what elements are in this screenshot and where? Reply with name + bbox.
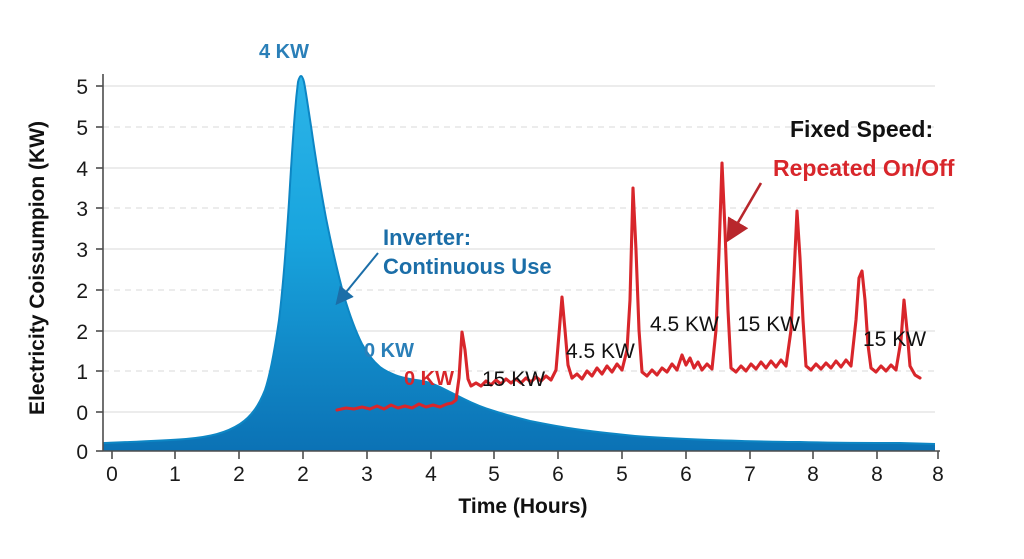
annotation-blue-0kw: 0 KW [364, 340, 414, 362]
y-tick-label-7: 1 [76, 361, 88, 384]
x-tick-label-10: 7 [744, 463, 756, 486]
y-tick-label-0: 5 [76, 76, 88, 99]
chart-container: 5 5 4 3 3 2 2 1 0 0 0 1 2 2 3 4 5 6 5 6 … [0, 0, 1024, 559]
annotation-kw-4: 15 KW [737, 313, 800, 336]
annotation-kw-3: 4.5 KW [650, 313, 719, 336]
annotation-kw-5: 15 KW [863, 328, 926, 351]
y-tick-label-9: 0 [76, 441, 88, 464]
x-tick-label-12: 8 [871, 463, 883, 486]
x-tick-label-6: 5 [488, 463, 500, 486]
annotation-red-0kw: 0 KW [404, 368, 454, 390]
y-tick-label-1: 5 [76, 117, 88, 140]
x-tick-label-7: 6 [552, 463, 564, 486]
x-tick-label-1: 1 [169, 463, 181, 486]
x-tick-label-4: 3 [361, 463, 373, 486]
x-tick-label-9: 6 [680, 463, 692, 486]
annotation-kw-1: 15 KW [482, 368, 545, 391]
annotation-inverter-line2: Continuous Use [383, 254, 552, 279]
y-tick-label-2: 4 [76, 158, 88, 181]
x-tick-label-2: 2 [233, 463, 245, 486]
y-axis-title: Electricity Coissumpion (KW) [26, 121, 49, 415]
x-tick-label-13: 8 [932, 463, 944, 486]
annotation-fixed-speed-title: Fixed Speed: [790, 116, 933, 142]
electricity-consumption-chart: 5 5 4 3 3 2 2 1 0 0 0 1 2 2 3 4 5 6 5 6 … [0, 0, 1024, 559]
y-tick-label-4: 3 [76, 239, 88, 262]
x-tick-label-5: 4 [425, 463, 437, 486]
x-tick-label-8: 5 [616, 463, 628, 486]
y-tick-label-3: 3 [76, 198, 88, 221]
y-tick-label-6: 2 [76, 321, 88, 344]
x-tick-label-11: 8 [807, 463, 819, 486]
annotation-fixed-speed-subtitle: Repeated On/Off [773, 155, 955, 181]
x-axis-title: Time (Hours) [458, 495, 587, 518]
x-tick-label-3: 2 [297, 463, 309, 486]
annotation-inverter-line1: Inverter: [383, 225, 471, 250]
y-tick-label-5: 2 [76, 280, 88, 303]
x-tick-label-0: 0 [106, 463, 118, 486]
annotation-peak-4kw: 4 KW [259, 41, 309, 63]
annotation-kw-2: 4.5 KW [566, 340, 635, 363]
y-tick-label-8: 0 [76, 402, 88, 425]
